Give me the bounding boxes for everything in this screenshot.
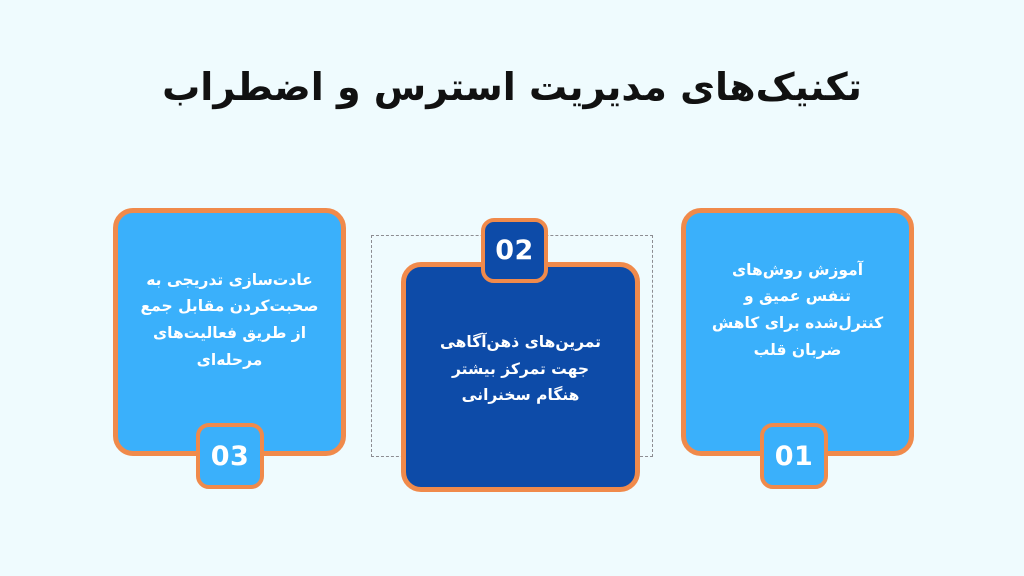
step-card-02[interactable]: تمرین‌های ذهن‌آگاهی جهت تمرکز بیشتر هنگا…	[401, 262, 640, 492]
step-card-01[interactable]: آموزش روش‌های تنفس عمیق و کنترل‌شده برای…	[681, 208, 914, 456]
step-badge-01[interactable]: 01	[760, 423, 828, 489]
step-card-02-text: تمرین‌های ذهن‌آگاهی جهت تمرکز بیشتر هنگا…	[424, 329, 617, 409]
infographic-canvas: تکنیک‌های مدیریت استرس و اضطراب عادت‌ساز…	[0, 0, 1024, 576]
page-title: تکنیک‌های مدیریت استرس و اضطراب	[0, 62, 1024, 113]
step-card-01-text: آموزش روش‌های تنفس عمیق و کنترل‌شده برای…	[696, 257, 899, 364]
step-badge-02[interactable]: 02	[481, 218, 548, 283]
step-card-03-text: عادت‌سازی تدریجی به صحبت‌کردن مقابل جمع …	[125, 267, 335, 374]
step-card-03[interactable]: عادت‌سازی تدریجی به صحبت‌کردن مقابل جمع …	[113, 208, 346, 456]
step-badge-03[interactable]: 03	[196, 423, 264, 489]
